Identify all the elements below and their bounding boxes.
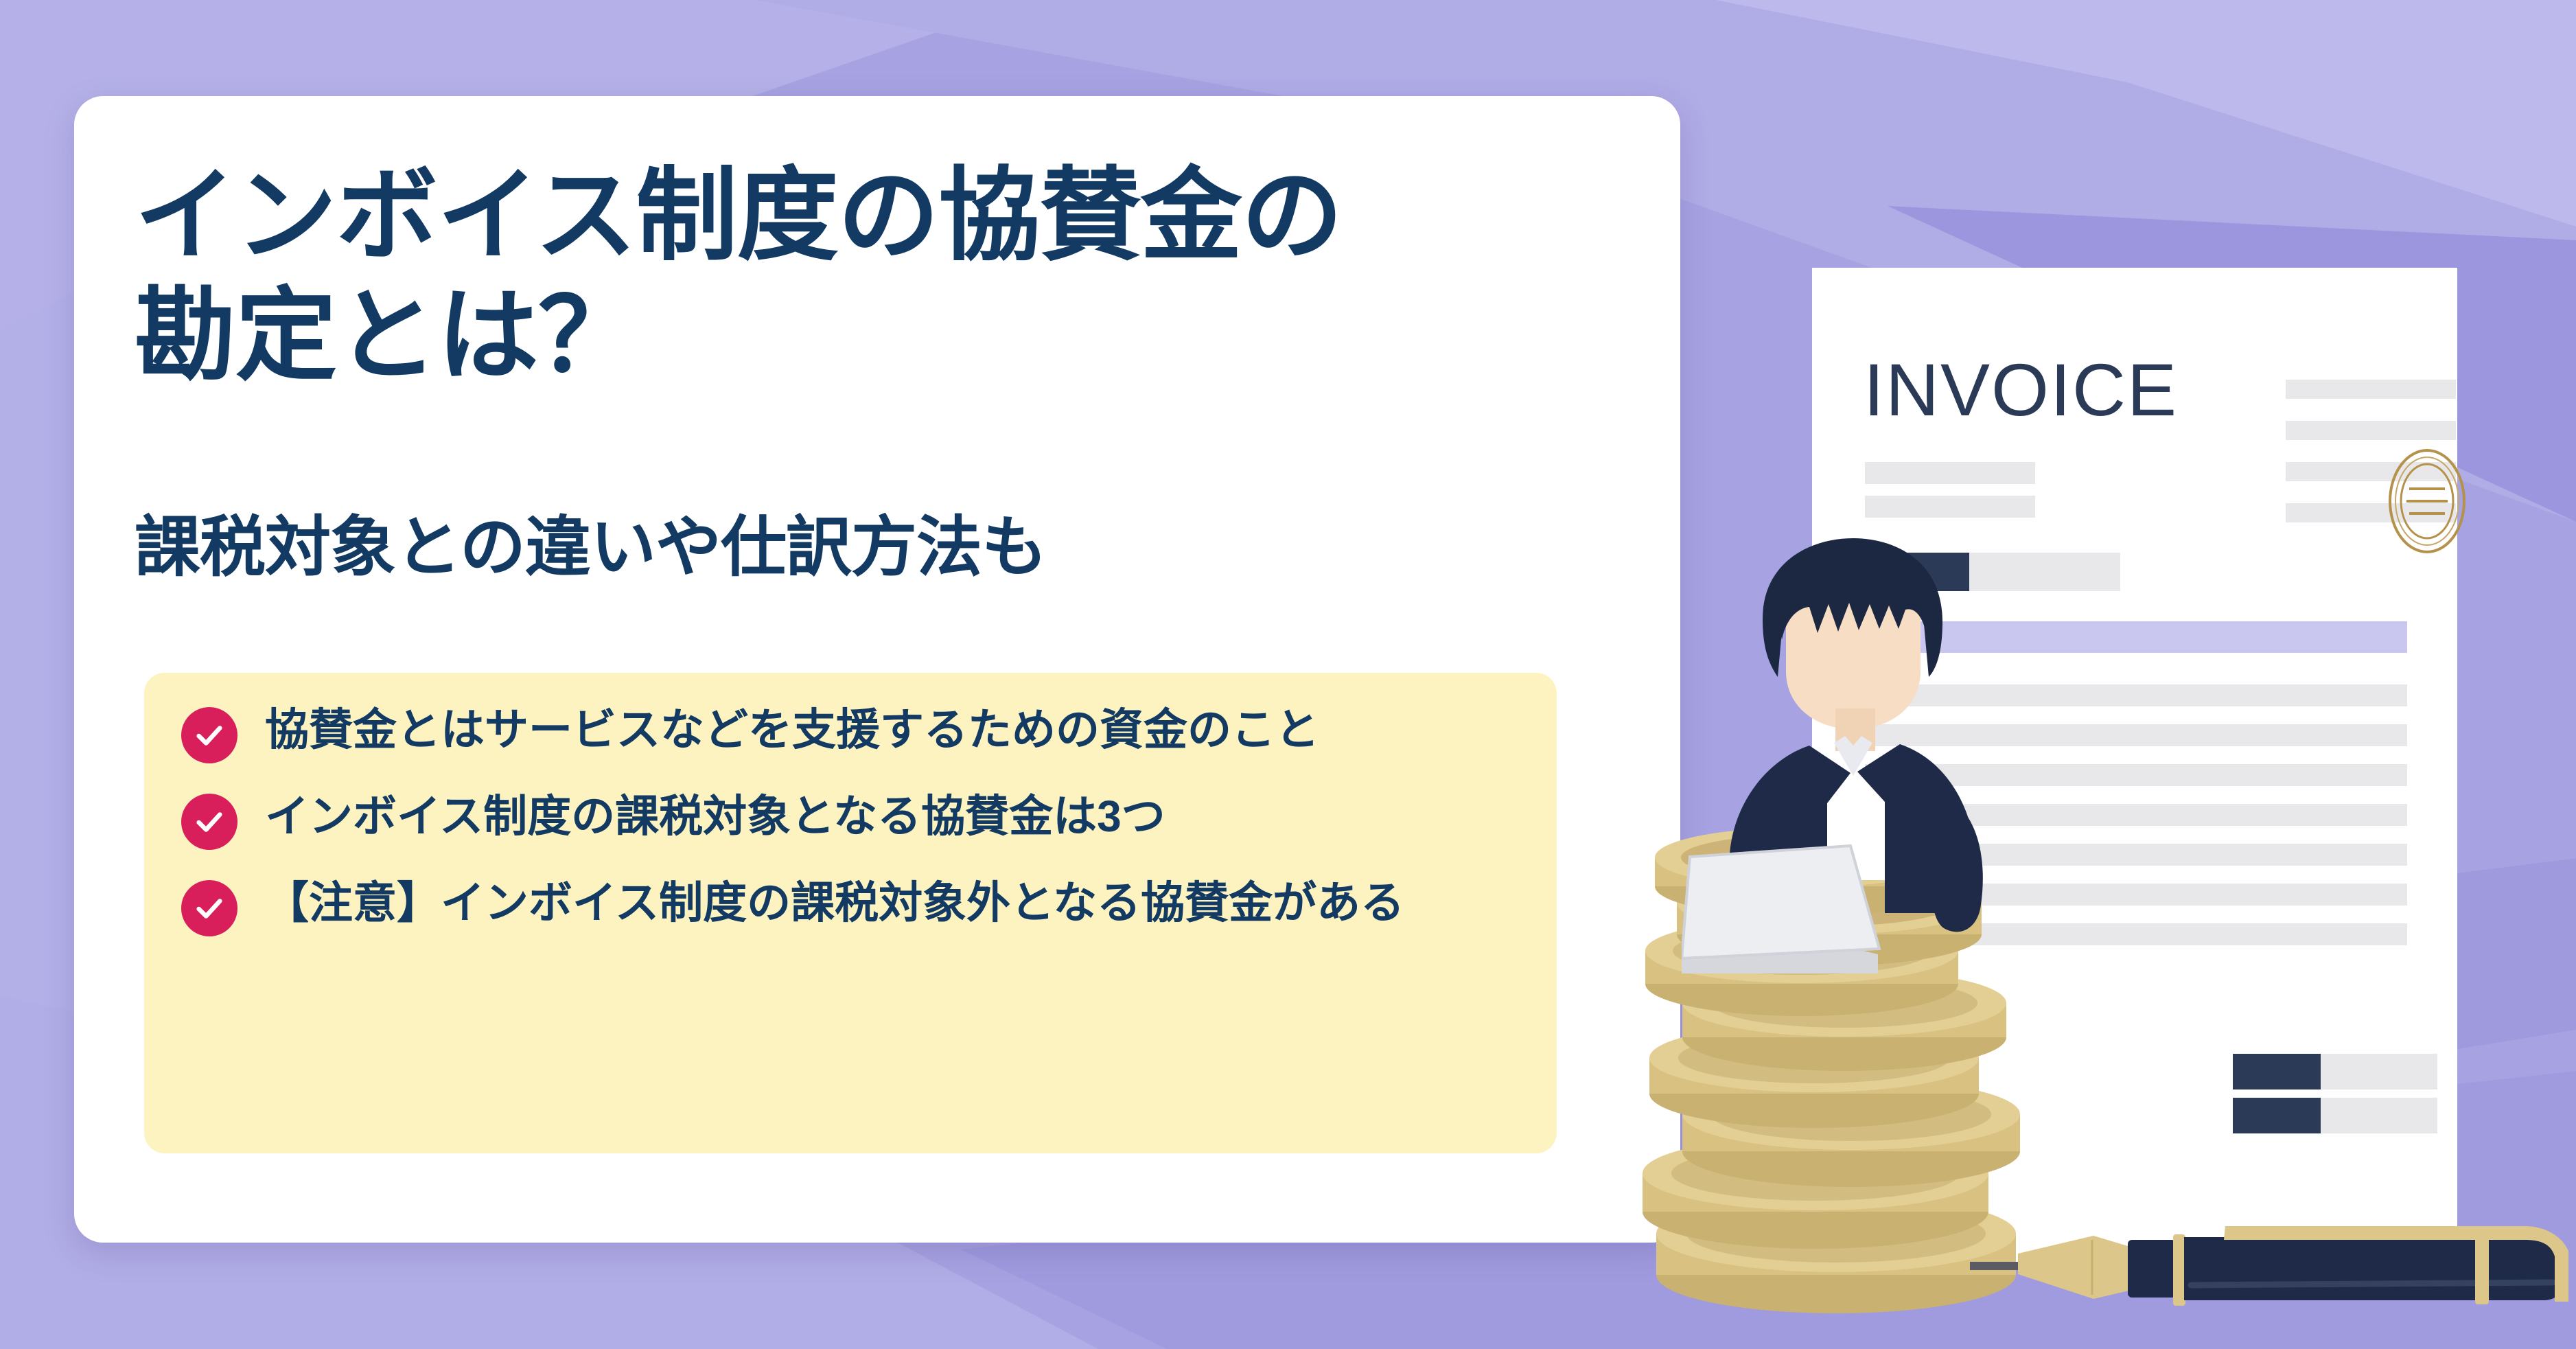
page-subtitle: 課税対象との違いや仕訳方法も (135, 508, 1665, 587)
gold-seal-stamp-icon (2386, 446, 2468, 556)
fountain-pen-icon (1963, 1208, 2576, 1328)
invoice-placeholder-bar (2286, 380, 2456, 399)
invoice-placeholder-bar (1865, 462, 2035, 484)
check-circle-icon (181, 700, 247, 763)
list-item-label: 協賛金とはサービスなどを支援するための資金のこと (265, 700, 1520, 759)
check-mark-icon (194, 892, 225, 924)
list-item: 【注意】インボイス制度の課税対象外となる協賛金がある (181, 873, 1520, 936)
invoice-document-title: INVOICE (1864, 347, 2178, 433)
list-item: 協賛金とはサービスなどを支援するための資金のこと (181, 700, 1520, 763)
invoice-placeholder-bar (2286, 421, 2456, 440)
list-item-label: インボイス制度の課税対象となる協賛金は3つ (265, 787, 1520, 845)
invoice-total-block (2233, 1054, 2321, 1089)
check-mark-icon (194, 806, 225, 838)
invoice-placeholder-bar (1865, 496, 2035, 518)
invoice-placeholder-bar (2321, 1098, 2437, 1133)
businessperson-with-laptop-icon (1682, 529, 2039, 975)
list-item-label: 【注意】インボイス制度の課税対象外となる協賛金がある (265, 873, 1520, 932)
check-circle-icon (181, 873, 247, 936)
list-item: インボイス制度の課税対象となる協賛金は3つ (181, 787, 1520, 850)
check-circle-icon (181, 787, 247, 850)
invoice-placeholder-bar (2321, 1054, 2437, 1089)
key-points-panel: 協賛金とはサービスなどを支援するための資金のこと インボイス制度の課税対象となる… (144, 673, 1557, 1153)
check-mark-icon (194, 719, 225, 751)
invoice-total-block (2233, 1098, 2321, 1133)
page-title: インボイス制度の協賛金の 勘定とは？ (135, 157, 1665, 396)
